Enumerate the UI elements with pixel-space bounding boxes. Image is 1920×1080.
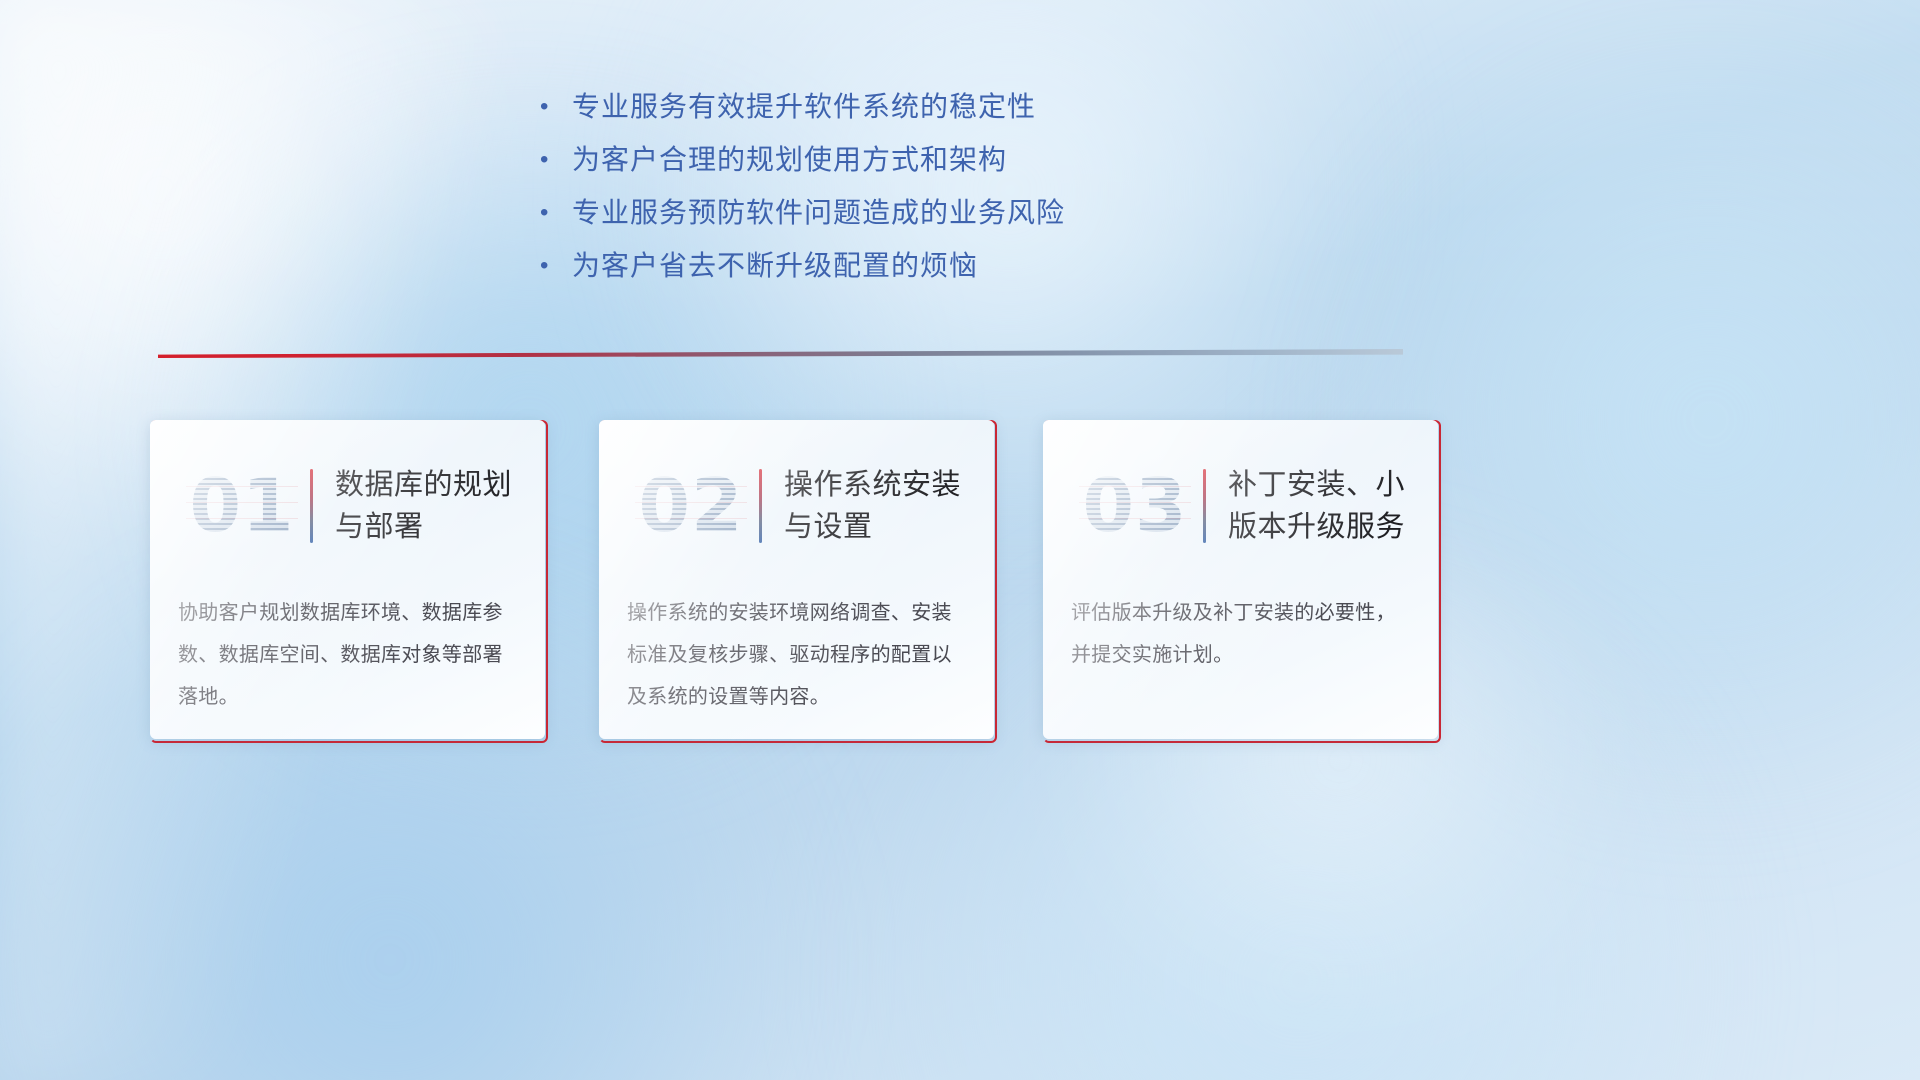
- card-divider-bar: [310, 469, 313, 543]
- bullet-marker-icon: •: [540, 251, 572, 281]
- card-number: 02: [627, 458, 755, 554]
- card-surface: 02 操作系统安装与设置 操作系统的安装环境网络调查、安装标准及复核步骤、驱动程…: [599, 420, 994, 739]
- card-title: 操作系统安装与设置: [784, 464, 966, 548]
- service-card-02[interactable]: 02 操作系统安装与设置 操作系统的安装环境网络调查、安装标准及复核步骤、驱动程…: [599, 420, 997, 743]
- card-divider-bar: [759, 469, 762, 543]
- card-body-text: 协助客户规划数据库环境、数据库参数、数据库空间、数据库对象等部署落地。: [178, 592, 517, 718]
- divider-gradient-line: [158, 349, 1403, 358]
- bullet-text: 专业服务预防软件问题造成的业务风险: [572, 198, 1065, 228]
- card-header: 02 操作系统安装与设置: [627, 458, 966, 554]
- card-surface: 03 补丁安装、小版本升级服务 评估版本升级及补丁安装的必要性，并提交实施计划。: [1043, 420, 1438, 739]
- card-number: 03: [1071, 458, 1199, 554]
- list-item: • 为客户省去不断升级配置的烦恼: [540, 251, 1240, 281]
- card-body-text: 操作系统的安装环境网络调查、安装标准及复核步骤、驱动程序的配置以及系统的设置等内…: [627, 592, 966, 718]
- list-item: • 为客户合理的规划使用方式和架构: [540, 145, 1240, 175]
- card-body-text: 评估版本升级及补丁安装的必要性，并提交实施计划。: [1071, 592, 1410, 676]
- service-card-03[interactable]: 03 补丁安装、小版本升级服务 评估版本升级及补丁安装的必要性，并提交实施计划。: [1043, 420, 1441, 743]
- card-number: 01: [178, 458, 306, 554]
- card-title: 补丁安装、小版本升级服务: [1228, 464, 1410, 548]
- card-divider-bar: [1203, 469, 1206, 543]
- service-card-01[interactable]: 01 数据库的规划与部署 协助客户规划数据库环境、数据库参数、数据库空间、数据库…: [150, 420, 548, 743]
- card-header: 01 数据库的规划与部署: [178, 458, 517, 554]
- benefits-bullet-list: • 专业服务有效提升软件系统的稳定性 • 为客户合理的规划使用方式和架构 • 专…: [540, 92, 1240, 304]
- list-item: • 专业服务有效提升软件系统的稳定性: [540, 92, 1240, 122]
- service-card-group: 01 数据库的规划与部署 协助客户规划数据库环境、数据库参数、数据库空间、数据库…: [150, 420, 1450, 745]
- list-item: • 专业服务预防软件问题造成的业务风险: [540, 198, 1240, 228]
- bullet-marker-icon: •: [540, 92, 572, 122]
- bullet-marker-icon: •: [540, 198, 572, 228]
- bullet-text: 为客户合理的规划使用方式和架构: [572, 145, 1007, 175]
- section-divider: [158, 349, 1403, 358]
- bullet-text: 为客户省去不断升级配置的烦恼: [572, 251, 978, 281]
- bullet-text: 专业服务有效提升软件系统的稳定性: [572, 92, 1036, 122]
- card-surface: 01 数据库的规划与部署 协助客户规划数据库环境、数据库参数、数据库空间、数据库…: [150, 420, 545, 739]
- bullet-marker-icon: •: [540, 145, 572, 175]
- card-header: 03 补丁安装、小版本升级服务: [1071, 458, 1410, 554]
- card-title: 数据库的规划与部署: [335, 464, 517, 548]
